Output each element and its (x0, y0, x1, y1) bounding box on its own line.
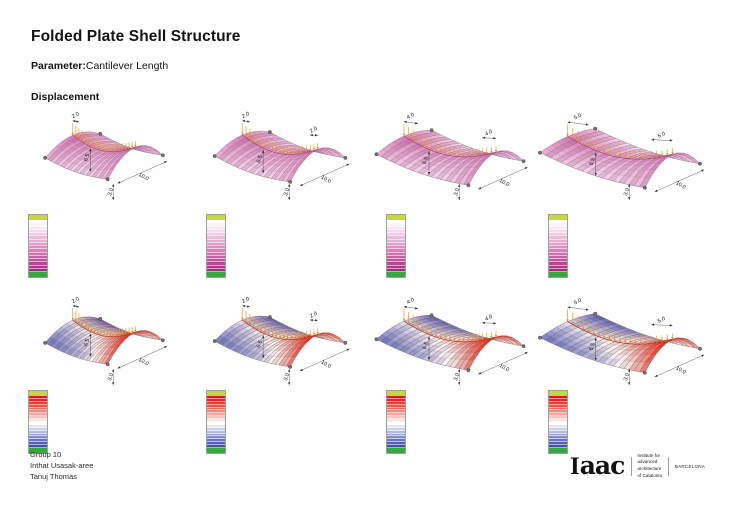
dim-cantilever-right: 2.0 (309, 126, 318, 135)
support-node (43, 341, 46, 344)
legend-footer-bar (549, 448, 567, 453)
dim-arrow (586, 308, 589, 310)
shell-model-8: 5.05.06.53.010.0 (540, 285, 718, 403)
dim-cantilever-right: 2.0 (309, 311, 318, 320)
legend-footer-bar (29, 272, 47, 277)
dim-arrow (458, 369, 460, 372)
dim-arrow (288, 369, 290, 372)
page-title: Folded Plate Shell Structure (31, 28, 241, 46)
dim-span: 10.0 (498, 363, 510, 373)
dim-rise: 3.0 (107, 188, 115, 197)
legend-displacement-4[interactable] (548, 214, 568, 278)
dim-cantilever-left: 2.0 (71, 111, 80, 120)
legend-swatch (549, 445, 567, 448)
legend-footer-bar (387, 448, 405, 453)
support-node (106, 178, 109, 181)
dim-span: 10.0 (137, 172, 149, 182)
support-node (593, 312, 596, 315)
support-node (593, 127, 596, 130)
credit-line-author-2: Tanuj Thomas (30, 472, 93, 483)
parameter-line: Parameter:Cantilever Length (31, 60, 168, 72)
dim-arrow (73, 305, 76, 307)
dim-arrow (242, 305, 245, 307)
model-cell-7[interactable]: 4.04.06.53.010.0 (368, 285, 546, 403)
support-node (538, 151, 541, 154)
legend-gradient (29, 396, 47, 448)
credit-line-author-1: Inthat Usasak-aree (30, 461, 93, 472)
dim-arrow (568, 306, 571, 308)
shell-model-5: 2.06.53.010.0 (18, 285, 196, 403)
dim-arrow (458, 197, 460, 200)
support-node (522, 160, 525, 163)
legend-gradient (29, 220, 47, 272)
legend-footer-bar (387, 272, 405, 277)
dim-span: 10.0 (320, 360, 332, 370)
model-cell-1[interactable]: 2.06.53.010.0 (18, 100, 196, 218)
model-cell-3[interactable]: 4.04.06.53.010.0 (368, 100, 546, 218)
legend-swatch (29, 445, 47, 448)
legend-displacement-2[interactable] (206, 214, 226, 278)
dim-arrow (112, 197, 114, 200)
dim-cantilever-left: 2.0 (71, 296, 80, 305)
support-node (43, 156, 46, 159)
dim-arrow (315, 134, 318, 136)
support-node (375, 338, 378, 341)
dim-span: 10.0 (674, 365, 686, 375)
dim-rise: 3.0 (107, 373, 115, 382)
dim-arrow (247, 305, 250, 307)
support-node (430, 314, 433, 317)
support-node (99, 132, 102, 135)
legend-gradient (207, 396, 225, 448)
credits-block: Group 10 Inthat Usasak-aree Tanuj Thomas (30, 450, 93, 483)
iaac-city: BARCELONA (675, 464, 705, 469)
dim-line-cantilever-left (568, 122, 589, 125)
support-node (268, 315, 271, 318)
shell-model-3: 4.04.06.53.010.0 (368, 100, 546, 218)
presentation-board: Folded Plate Shell Structure Parameter:C… (0, 0, 730, 516)
iaac-mark-text: aac (580, 451, 625, 480)
dim-rise: 3.0 (453, 188, 461, 197)
shell-model-2: 2.02.06.53.010.0 (196, 100, 374, 218)
dim-arrow (415, 122, 418, 124)
shell-model-1: 2.06.53.010.0 (18, 100, 196, 218)
dim-arrow (242, 120, 245, 122)
logo-divider (631, 457, 632, 476)
support-node (375, 153, 378, 156)
support-node (467, 369, 470, 372)
model-cell-2[interactable]: 2.02.06.53.010.0 (196, 100, 374, 218)
model-cell-5[interactable]: 2.06.53.010.0 (18, 285, 196, 403)
dim-span: 10.0 (674, 180, 686, 190)
dim-arrow (458, 382, 460, 385)
shell-model-6: 2.02.06.53.010.0 (196, 285, 374, 403)
dim-arrow (651, 324, 654, 326)
support-node (213, 154, 216, 157)
legend-gradient (387, 396, 405, 448)
dim-arrow (247, 120, 250, 122)
legend-swatch (207, 269, 225, 272)
parameter-value: Cantilever Length (86, 60, 168, 72)
support-node (268, 130, 271, 133)
dim-cantilever-right: 5.0 (657, 131, 666, 140)
legend-footer-bar (207, 448, 225, 453)
support-node (99, 317, 102, 320)
dim-line-cantilever-left (568, 307, 589, 310)
dim-arrow (493, 322, 496, 324)
dim-arrow (404, 121, 407, 123)
dim-arrow (493, 137, 496, 139)
legend-stress-3[interactable] (386, 390, 406, 454)
legend-swatch (549, 269, 567, 272)
dim-line-cantilever-right (651, 325, 672, 326)
dim-rise: 3.0 (283, 188, 291, 197)
dim-arrow (482, 137, 485, 139)
support-node (106, 363, 109, 366)
legend-footer-bar (207, 272, 225, 277)
dim-rise: 3.0 (283, 373, 291, 382)
shell-model-7: 4.04.06.53.010.0 (368, 285, 546, 403)
dim-arrow (76, 305, 79, 307)
dim-span: 10.0 (498, 178, 510, 188)
dim-arrow (586, 123, 589, 125)
dim-arrow (458, 184, 460, 187)
support-node (344, 156, 347, 159)
dim-arrow (628, 382, 630, 385)
dim-arrow (288, 184, 290, 187)
iaac-initial: I (570, 453, 579, 480)
legend-gradient (387, 220, 405, 272)
legend-gradient (207, 220, 225, 272)
legend-displacement-3[interactable] (386, 214, 406, 278)
dim-rise: 3.0 (453, 373, 461, 382)
dim-span: 10.0 (320, 175, 332, 185)
credit-line-group: Group 10 (30, 450, 93, 461)
dim-arrow (288, 197, 290, 200)
parameter-label: Parameter: (31, 60, 86, 72)
dim-arrow (112, 382, 114, 385)
dim-cantilever-right: 4.0 (484, 314, 493, 323)
dim-arrow (670, 139, 673, 141)
support-node (161, 339, 164, 342)
dim-arrow (670, 324, 673, 326)
legend-swatch (207, 445, 225, 448)
dim-arrow (288, 382, 290, 385)
dim-cantilever-left: 2.0 (241, 296, 250, 305)
dim-cantilever-left: 2.0 (241, 111, 250, 120)
legend-swatch (29, 269, 47, 272)
support-node (213, 339, 216, 342)
legend-stress-2[interactable] (206, 390, 226, 454)
dim-arrow (76, 120, 79, 122)
support-node (288, 180, 291, 183)
dim-arrow (112, 369, 114, 372)
legend-swatch (387, 445, 405, 448)
dim-arrow (568, 121, 571, 123)
iaac-logo: Iaac Institute for advanced architecture… (570, 451, 705, 481)
support-node (643, 371, 646, 374)
model-cell-6[interactable]: 2.02.06.53.010.0 (196, 285, 374, 403)
support-node (522, 345, 525, 348)
support-node (698, 162, 701, 165)
dim-arrow (628, 197, 630, 200)
dim-arrow (73, 120, 76, 122)
dim-line-cantilever-right (651, 140, 672, 141)
support-node (643, 186, 646, 189)
dim-arrow (415, 307, 418, 309)
support-node (430, 129, 433, 132)
dim-arrow (651, 139, 654, 141)
dim-arrow (112, 184, 114, 187)
logo-divider-2 (668, 457, 669, 476)
dim-rise: 3.0 (623, 188, 631, 197)
dim-cantilever-left: 4.0 (406, 112, 415, 121)
legend-stress-4[interactable] (548, 390, 568, 454)
dim-span: 10.0 (137, 357, 149, 367)
dim-cantilever-right: 5.0 (657, 316, 666, 325)
support-node (467, 184, 470, 187)
dim-arrow (482, 322, 485, 324)
support-node (344, 341, 347, 344)
support-node (161, 154, 164, 157)
support-node (538, 336, 541, 339)
iaac-subtitle: Institute for advanced architecture of C… (637, 453, 662, 479)
legend-displacement-1[interactable] (28, 214, 48, 278)
model-cell-4[interactable]: 5.05.06.53.010.0 (540, 100, 718, 218)
shell-model-4: 5.05.06.53.010.0 (540, 100, 718, 218)
dim-rise: 3.0 (623, 373, 631, 382)
legend-stress-1[interactable] (28, 390, 48, 454)
dim-cantilever-left: 4.0 (406, 297, 415, 306)
legend-gradient (549, 220, 567, 272)
dim-arrow (315, 319, 318, 321)
dim-cantilever-right: 4.0 (484, 129, 493, 138)
iaac-wordmark: Iaac (570, 453, 624, 479)
dim-cantilever-left: 5.0 (573, 298, 582, 307)
model-cell-8[interactable]: 5.05.06.53.010.0 (540, 285, 718, 403)
dim-arrow (404, 306, 407, 308)
dim-cantilever-left: 5.0 (573, 113, 582, 122)
legend-swatch (387, 269, 405, 272)
legend-footer-bar (549, 272, 567, 277)
model-row-displacement: 2.06.53.010.0 2.02.06.53.010.0 4.04.06.5… (0, 100, 730, 218)
support-node (698, 347, 701, 350)
support-node (288, 365, 291, 368)
legend-gradient (549, 396, 567, 448)
model-row-stress: 2.06.53.010.0 2.02.06.53.010.0 4.04.06.5… (0, 285, 730, 403)
